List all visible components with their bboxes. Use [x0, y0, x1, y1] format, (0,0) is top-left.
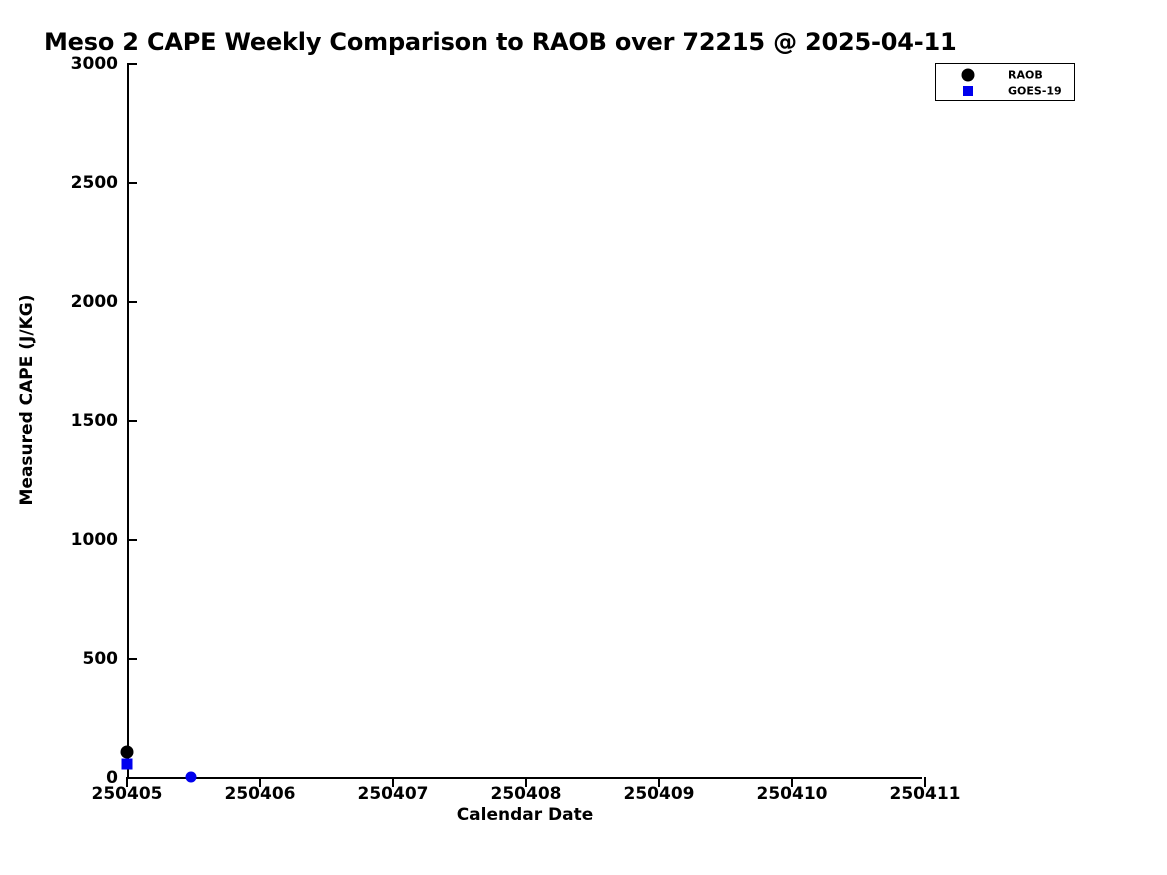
legend-item-goes-19: GOES-19: [936, 82, 1074, 99]
y-axis-tick-label: 3000: [12, 54, 118, 74]
legend-item-raob: RAOB: [936, 66, 1074, 83]
x-axis-tick-label: 250407: [358, 784, 429, 804]
x-axis-tick-label: 250409: [624, 784, 695, 804]
x-axis-tick-label: 250410: [757, 784, 828, 804]
x-axis-tick-label: 250411: [890, 784, 961, 804]
legend-circle-icon: [962, 68, 975, 81]
data-point-raob: [121, 745, 134, 758]
y-axis-tick-label: 500: [12, 649, 118, 669]
x-axis-tick-label: 250405: [92, 784, 163, 804]
x-axis-title: Calendar Date: [0, 805, 1050, 825]
page-title: Meso 2 CAPE Weekly Comparison to RAOB ov…: [44, 28, 957, 56]
legend-label: RAOB: [1008, 68, 1043, 81]
plot-area: [127, 64, 922, 778]
x-axis-tick-label: 250408: [491, 784, 562, 804]
data-point-goes-19: [185, 771, 196, 782]
data-point-goes-19: [122, 759, 133, 770]
x-axis-tick-label: 250406: [225, 784, 296, 804]
chart-legend: RAOBGOES-19: [935, 63, 1075, 101]
legend-label: GOES-19: [1008, 84, 1062, 97]
y-axis-title: Measured CAPE (J/KG): [17, 190, 37, 610]
legend-square-icon: [963, 86, 973, 96]
